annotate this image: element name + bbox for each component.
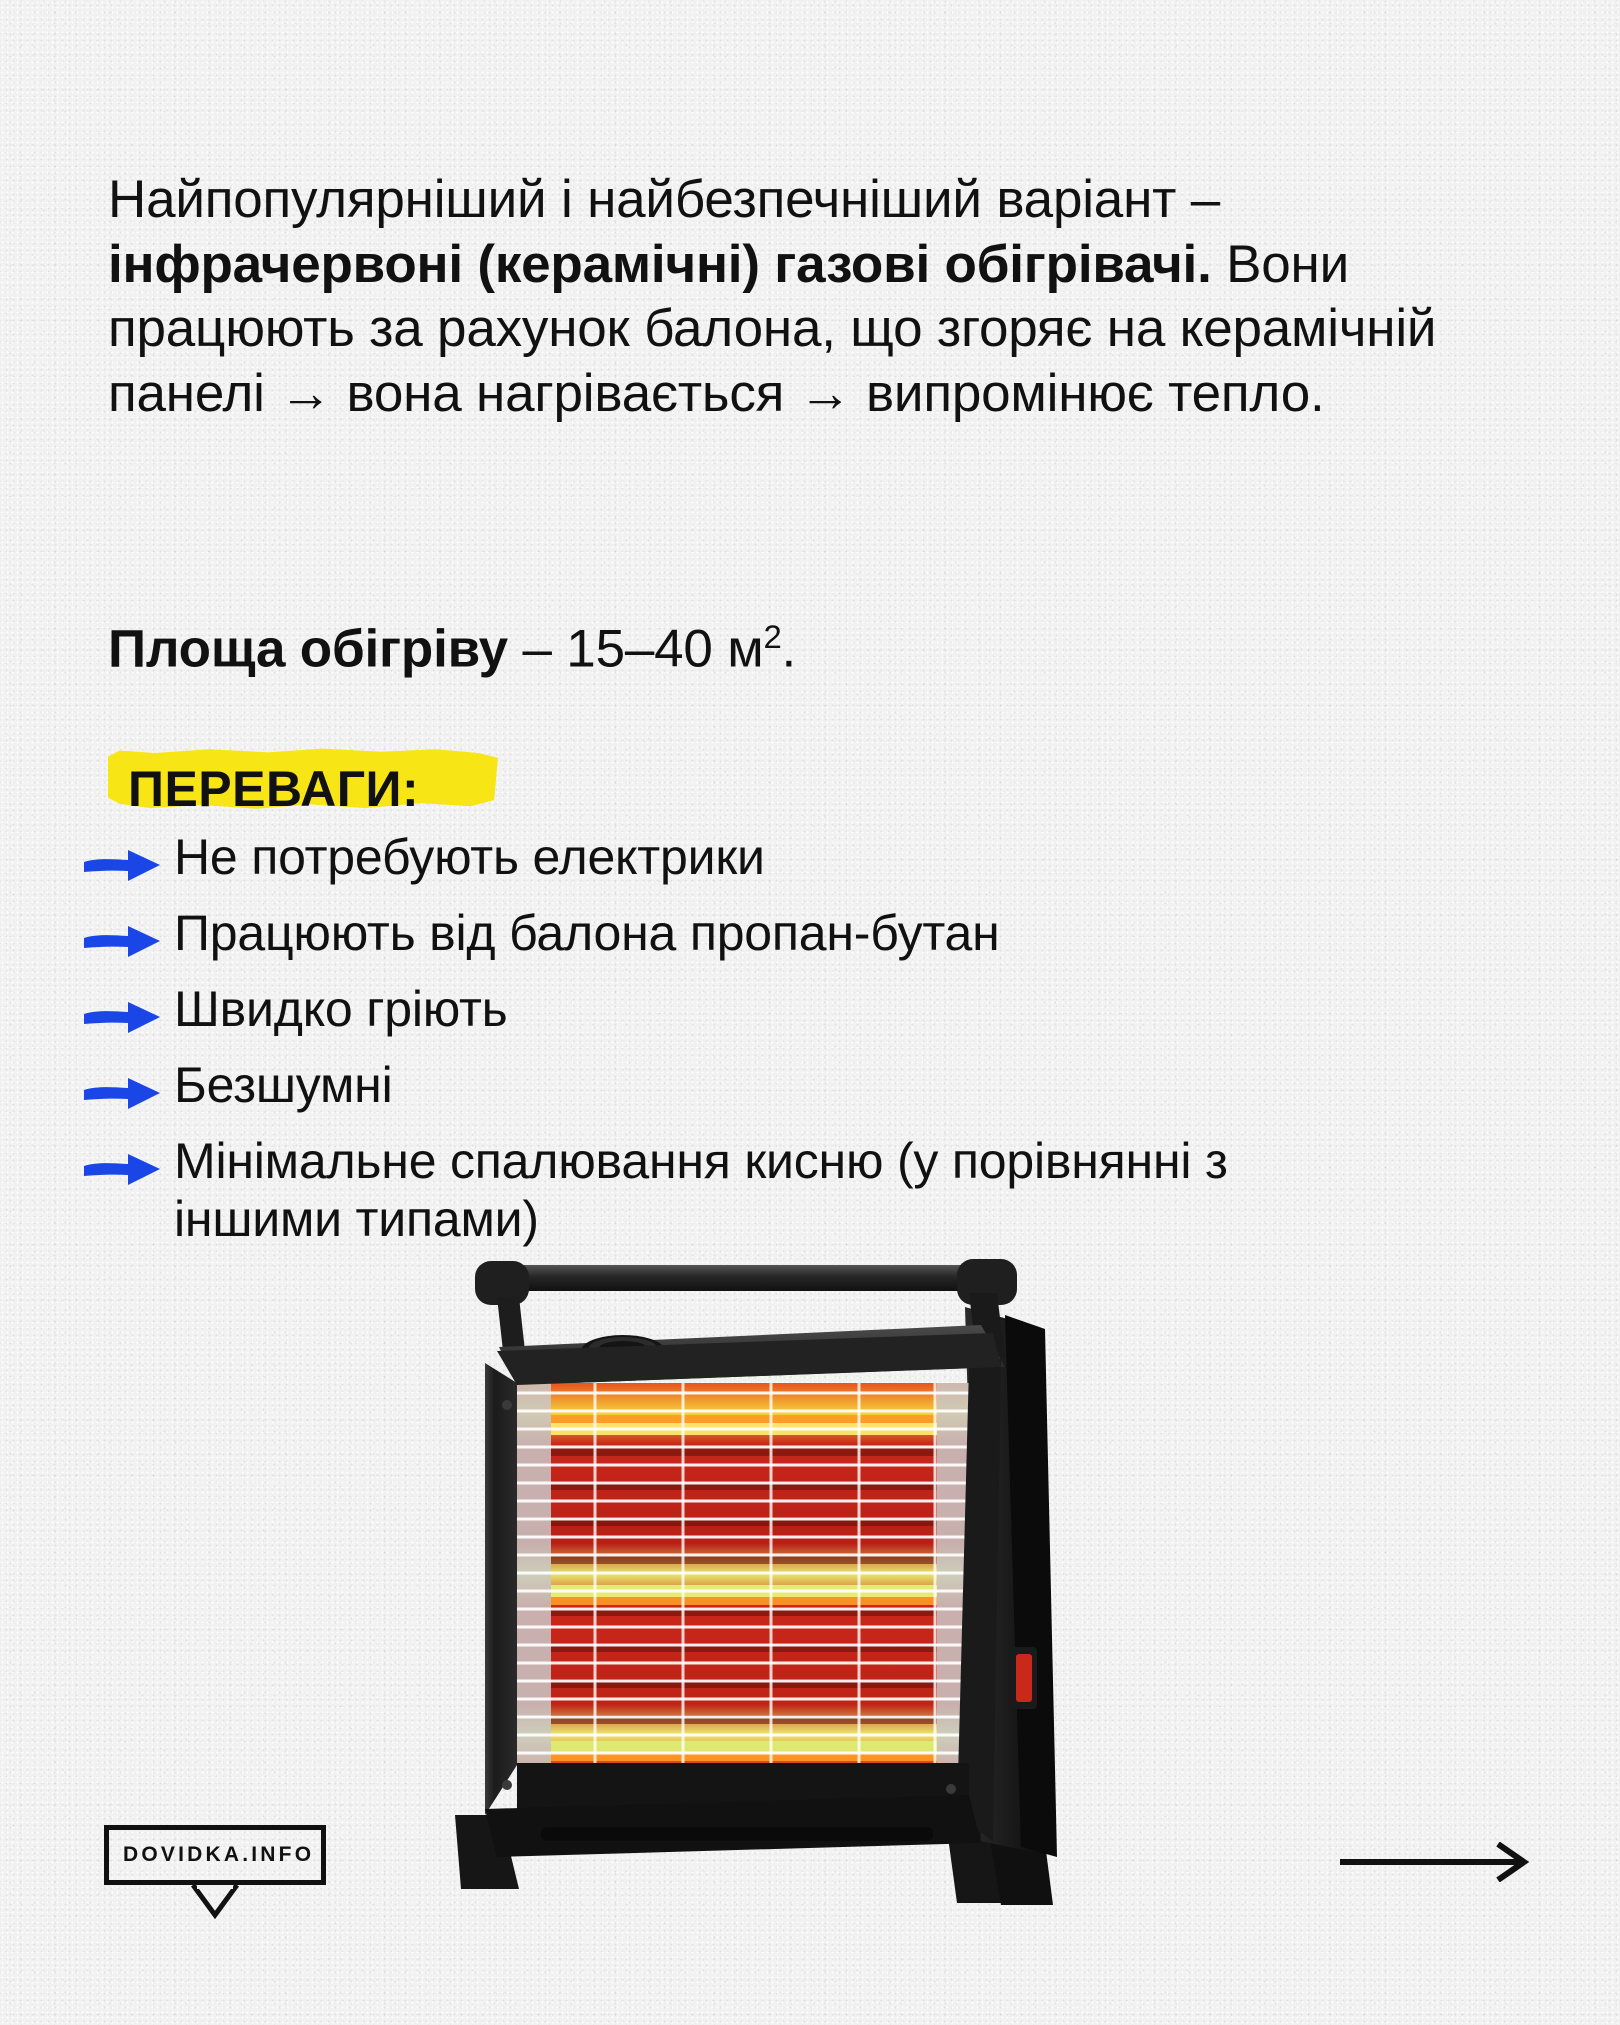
paragraph-bold-term: інфрачервоні (керамічні) газові обігріва… (108, 235, 1212, 294)
list-item-label: Працюють від балона пропан-бутан (174, 902, 1000, 962)
list-item-label: Безшумні (174, 1054, 393, 1114)
brand-logo[interactable]: DOVIDKA.INFO (104, 1825, 326, 1885)
list-item-label: Мінімальне спалювання кисню (у порівнянн… (174, 1130, 1234, 1248)
list-item-label: Швидко гріють (174, 978, 508, 1038)
logo-speech-bubble: DOVIDKA.INFO (104, 1825, 326, 1885)
blue-arrow-icon (78, 1136, 174, 1200)
blue-arrow-icon (78, 984, 174, 1048)
square-meter-superscript: 2 (763, 618, 781, 655)
list-item: Мінімальне спалювання кисню (у порівнянн… (78, 1130, 1498, 1248)
advantages-heading-label: ПЕРЕВАГИ: (128, 761, 419, 817)
heater-product-image (445, 1255, 1155, 1945)
list-item: Працюють від балона пропан-бутан (78, 902, 1498, 972)
advantages-heading: ПЕРЕВАГИ: (110, 754, 437, 828)
advantages-list: Не потребують електрики Працюють від бал… (78, 826, 1498, 1254)
heating-area-label: Площа обігріву (108, 620, 508, 679)
blue-arrow-icon (78, 908, 174, 972)
blue-arrow-icon (78, 1060, 174, 1124)
paragraph-part-1: Найпопулярніший і найбезпечніший варіант… (108, 170, 1220, 229)
heating-area-line: Площа обігріву – 15–40 м2. (108, 618, 796, 680)
intro-paragraph: Найпопулярніший і найбезпечніший варіант… (108, 168, 1528, 427)
blue-arrow-icon (78, 832, 174, 896)
heating-area-period: . (782, 620, 797, 679)
logo-text: DOVIDKA.INFO (123, 1843, 307, 1867)
list-item-label: Не потребують електрики (174, 826, 765, 886)
heating-area-value: – 15–40 м (508, 620, 763, 679)
speech-bubble-tail-icon (191, 1885, 239, 1919)
list-item: Безшумні (78, 1054, 1498, 1124)
next-slide-arrow-icon[interactable] (1338, 1842, 1538, 1882)
list-item: Не потребують електрики (78, 826, 1498, 896)
list-item: Швидко гріють (78, 978, 1498, 1048)
